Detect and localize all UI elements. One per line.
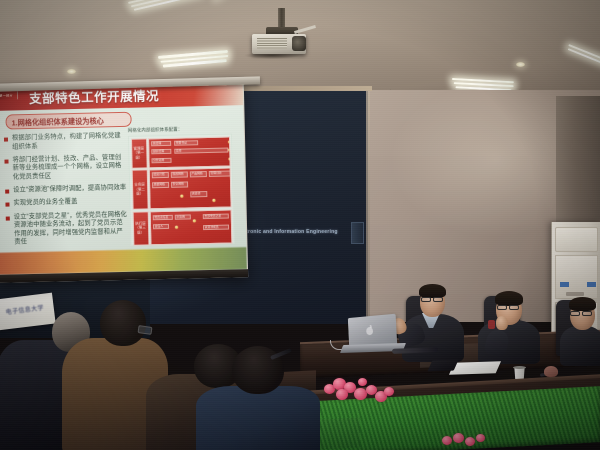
attendee2-torso (560, 326, 600, 366)
flower-arrangement (322, 376, 402, 404)
table-chip: 分管领导 (151, 157, 171, 163)
slide-bullet-text: 根据部门业务特点，构建了网格化党建组织体系 (12, 132, 126, 152)
table-chip: 总师 (174, 147, 228, 154)
table-row-body: 经营计划 技改网格 产品网格 管理创新 质量网格 安全网格 资源池 (149, 167, 231, 209)
glasses-icon (421, 297, 431, 302)
slide-bullet-item: 根据部门业务特点，构建了网格化党建组织体系 (4, 132, 126, 152)
table-chip: 责任人 (153, 223, 169, 229)
table-chip: 党员责任区 (153, 214, 173, 220)
slide-bullet-item: 设立“资源池”保障时调配，提高协同效率 (5, 184, 127, 195)
person-attendee-2 (560, 294, 600, 360)
presentation-slide: 第一部分 支部特色工作开展情况 1.网格化组织体系建设为核心 根据部门业务特点，… (0, 83, 247, 275)
table-chip: 副总经理 (151, 148, 171, 154)
table-chip: 管理创新 (209, 170, 231, 176)
table-chip: 产品网格 (190, 171, 207, 177)
star-dot-icon (212, 199, 215, 202)
wall-department-sign: ctronic and Information Engineering (243, 226, 353, 238)
table-row: 执行层 （第三级） 党员责任区 示范岗 责任人 支部党员之星 资源池成员 (132, 209, 232, 245)
table-chip: 技改网格 (171, 171, 188, 177)
attendee1-hand-on-chin (496, 316, 508, 330)
attendee4-head-back (100, 300, 146, 346)
laptop (348, 314, 397, 347)
bullet-marker-icon (6, 216, 10, 220)
table-chip: 总经理 (151, 140, 171, 146)
slide-bullet-item: 设立“支部党员之星”，优秀党员在网格化资源池中随业务流动，起到了党员示范作用的发… (6, 210, 129, 247)
slide-bullet-list: 根据部门业务特点，构建了网格化党建组织体系 将部门经营计划、技改、产品、管理创新… (4, 132, 129, 252)
table-row-label: 管理层 （第一级） (131, 138, 148, 168)
slide-org-table: 管理层 （第一级） 总经理 党委书记 副总经理 总师 分管领导 业务层 （第二级… (128, 133, 234, 245)
paper-cup-rim (513, 366, 526, 369)
ceiling-downlight (67, 69, 76, 74)
table-row: 管理层 （第一级） 总经理 党委书记 副总经理 总师 分管领导 (131, 136, 231, 168)
table-row-body: 总经理 党委书记 副总经理 总师 分管领导 (148, 136, 230, 168)
table-chip: 资源池成员 (203, 224, 229, 230)
wall-sign-text: ctronic and Information Engineering (243, 229, 338, 235)
bullet-marker-icon (5, 190, 9, 194)
slide-bullet-item: 将部门经营计划、技改、产品、管理创新等业务梳理成一个个网格，设立网格化党员责任区 (4, 154, 127, 183)
ceiling-projector (236, 8, 356, 64)
glasses-icon (570, 311, 580, 316)
projection-screen: 第一部分 支部特色工作开展情况 1.网格化组织体系建设为核心 根据部门业务特点，… (0, 81, 248, 283)
slide-subheading-text: 1.网格化组织体系建设为核心 (6, 113, 130, 130)
table-chip: 资源池 (190, 191, 207, 197)
table-row-label: 业务层 （第二级） (131, 169, 148, 209)
bullet-marker-icon (4, 138, 8, 142)
slide-bullet-text: 将部门经营计划、技改、产品、管理创新等业务梳理成一个个网格，设立网格化党员责任区 (12, 154, 127, 182)
attendee6-torso (196, 386, 320, 450)
slide-bullet-text: 实现党员的业务全覆盖 (13, 198, 77, 208)
person-attendee-1 (478, 290, 544, 360)
projector-vent (257, 38, 287, 49)
attendee1-hair (495, 291, 523, 306)
desk-object (544, 366, 558, 377)
slide-bullet-text: 设立“支部党员之星”，优秀党员在网格化资源池中随业务流动，起到了党员示范作用的发… (14, 210, 129, 247)
star-dot-icon (193, 219, 196, 222)
bullet-marker-icon (5, 203, 9, 207)
table-row-label: 执行层 （第三级） (132, 211, 149, 245)
presenter-hair (419, 284, 446, 298)
table-row: 业务层 （第二级） 经营计划 技改网格 产品网格 管理创新 质量网格 安全网格 … (131, 167, 231, 209)
ac-top-panel (555, 227, 598, 252)
slide-section-logo: 第一部分 (0, 91, 18, 100)
glasses-icon (509, 305, 519, 310)
notebook (427, 360, 458, 372)
slide-bullet-text: 设立“资源池”保障时调配，提高协同效率 (13, 184, 126, 195)
glasses-icon (433, 297, 443, 302)
flower-arrangement (440, 432, 490, 450)
glasses-icon (582, 311, 592, 316)
ceiling-downlight (516, 62, 525, 67)
slide-table-caption: 网格化内部组织体系配置： (128, 125, 232, 133)
attendee2-hair (569, 297, 596, 311)
table-chip: 质量网格 (152, 182, 169, 188)
table-chip: 经营计划 (152, 172, 169, 178)
slide-subheading-box: 1.网格化组织体系建设为核心 (5, 112, 131, 130)
star-dot-icon (228, 157, 230, 160)
star-dot-icon (228, 148, 230, 151)
wall-panel-plate (351, 222, 364, 244)
glasses-icon (497, 305, 507, 310)
conference-room-photo: ctronic and Information Engineering 第一部分… (0, 0, 600, 450)
apple-logo-icon (366, 327, 373, 335)
ac-label-sticker (587, 282, 596, 287)
wall-seam (366, 90, 370, 324)
projector-lens-icon (292, 36, 306, 51)
projector-arm (294, 25, 316, 34)
slide-bullet-item: 实现党员的业务全覆盖 (5, 197, 127, 208)
table-row-body: 党员责任区 示范岗 责任人 支部党员之星 资源池成员 (150, 209, 232, 245)
person-attendee-6 (196, 346, 328, 450)
table-chip: 党委书记 (174, 140, 198, 146)
table-chip: 支部党员之星 (203, 213, 229, 219)
star-dot-icon (180, 195, 183, 198)
star-dot-icon (175, 225, 178, 228)
ac-label-sticker (560, 282, 569, 287)
table-chip: 安全网格 (171, 181, 188, 187)
bullet-marker-icon (4, 159, 8, 163)
table-chip: 示范岗 (175, 214, 191, 220)
star-dot-icon (228, 140, 230, 143)
attendee1-collar-detail (488, 320, 495, 329)
